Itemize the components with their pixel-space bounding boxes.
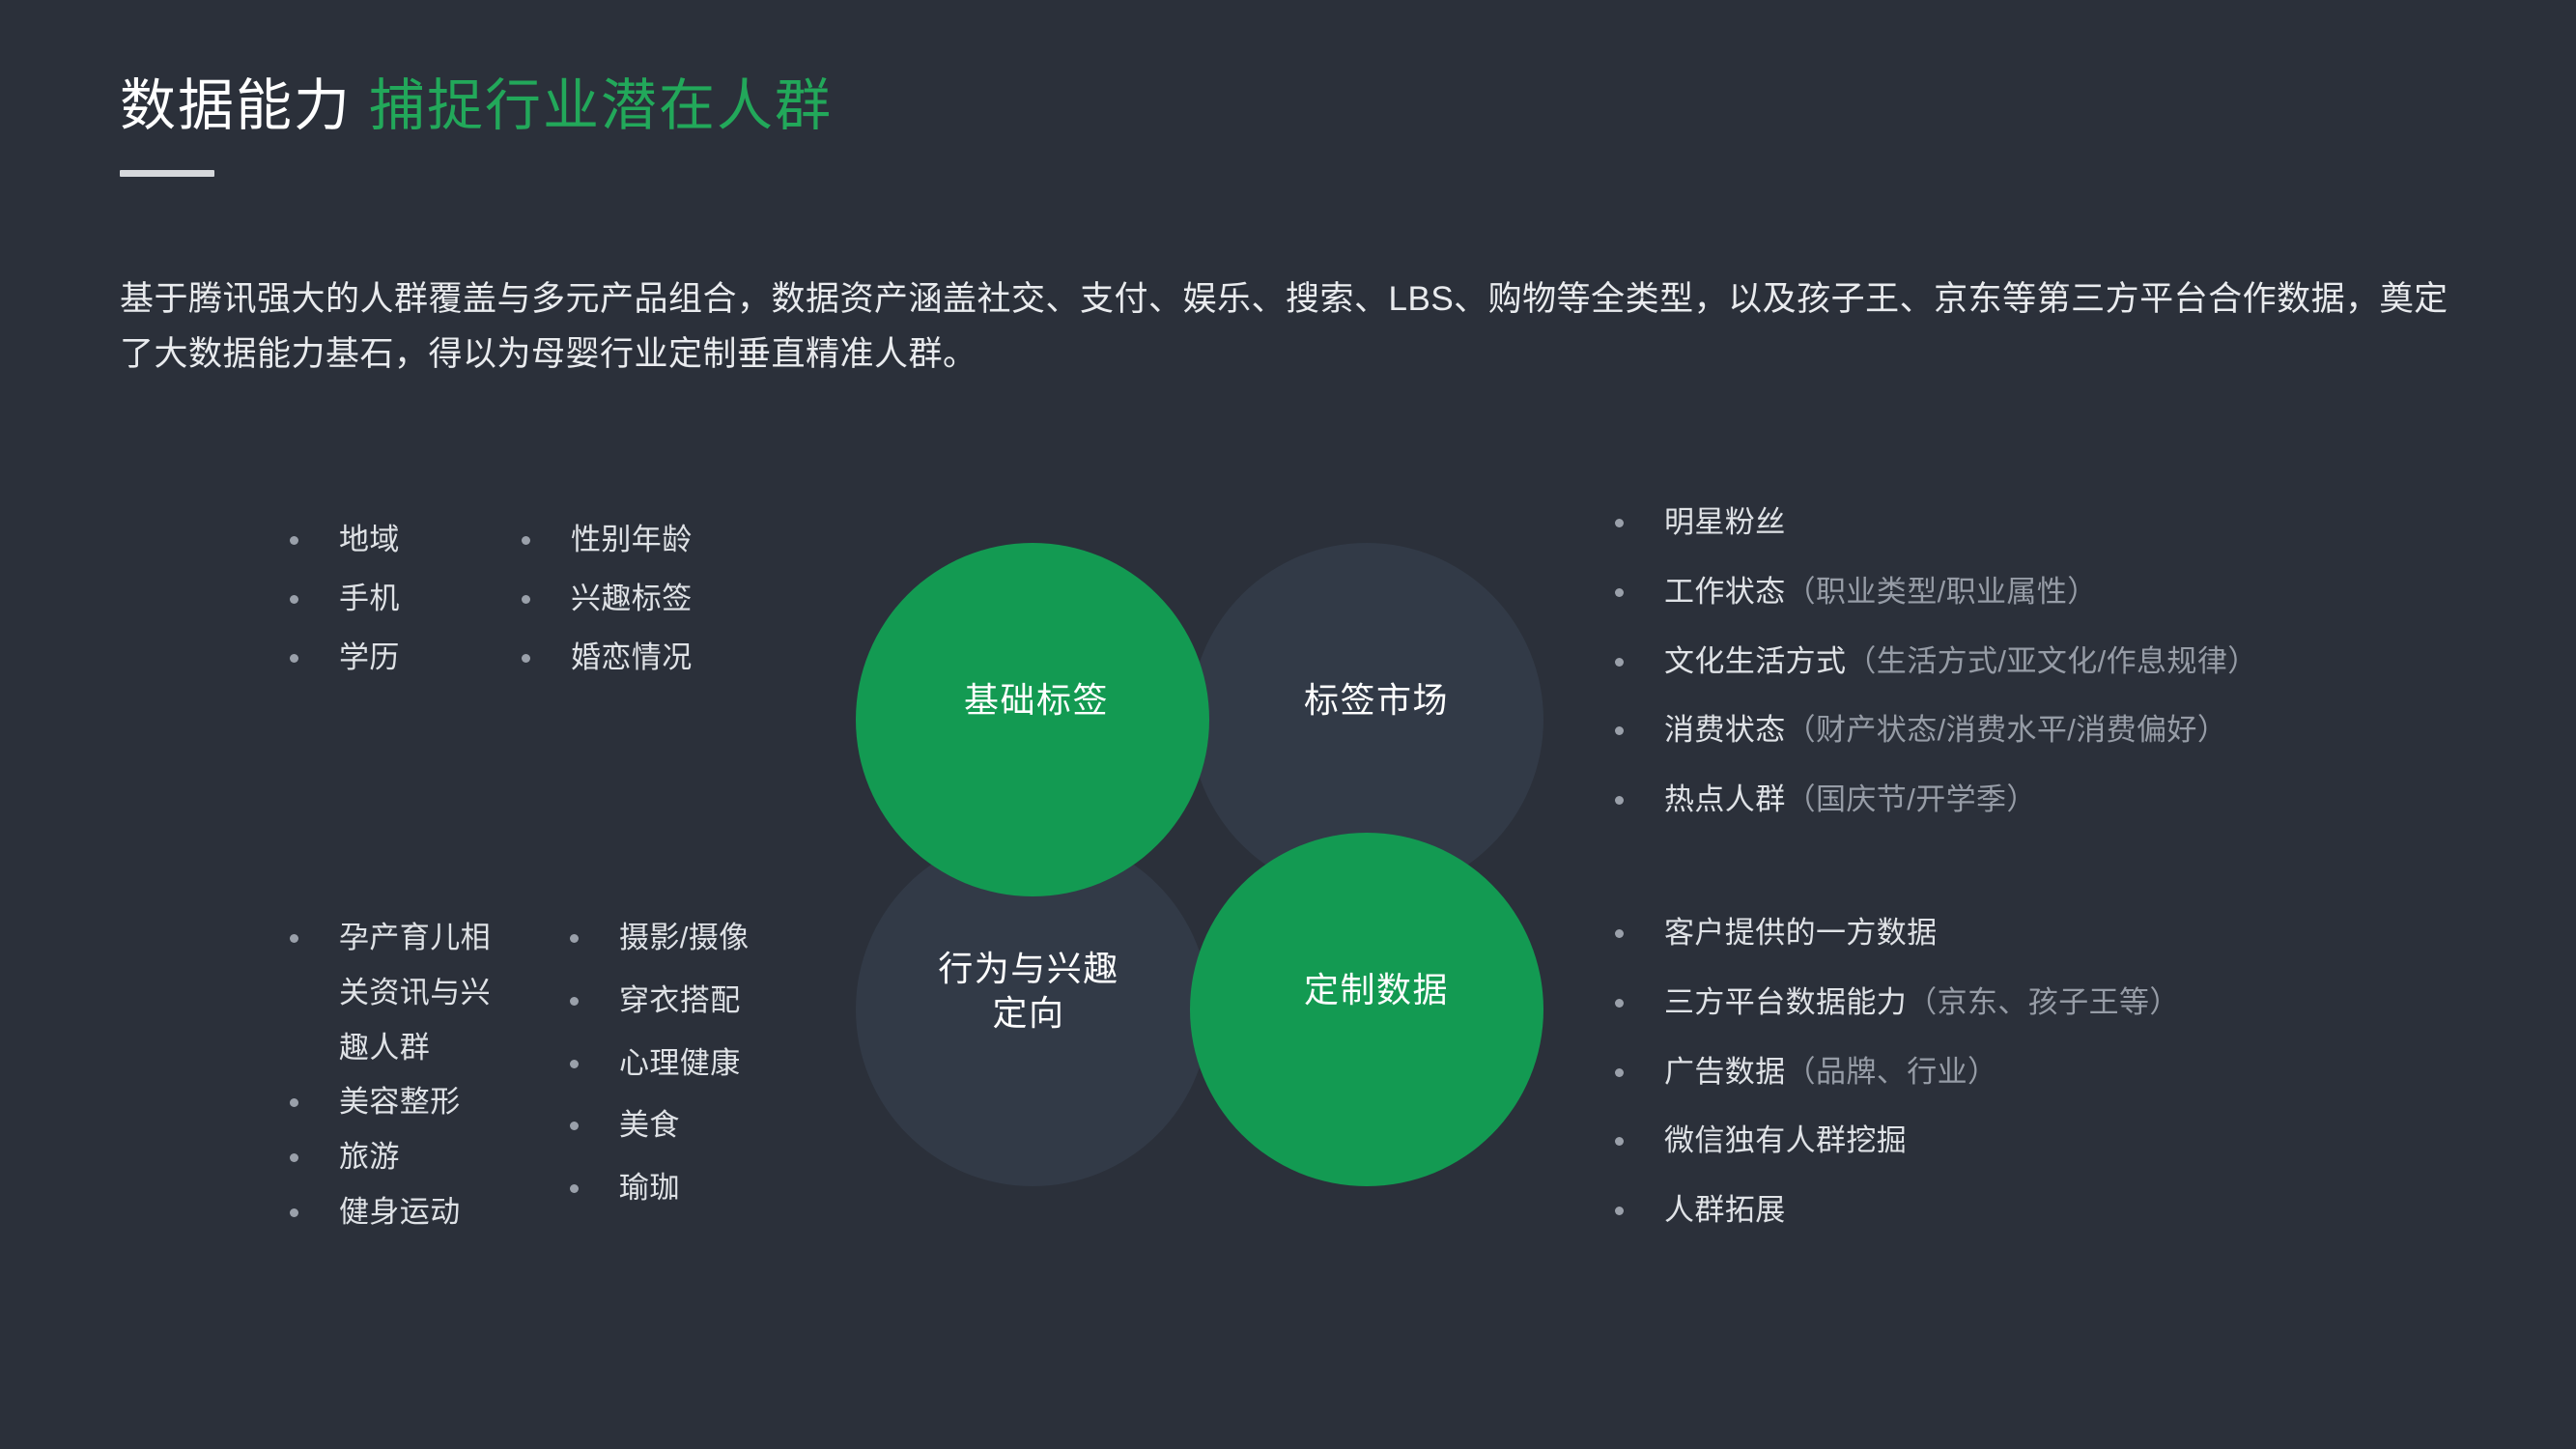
list-item: 关资讯与兴 bbox=[290, 973, 526, 1014]
list-item-label: 孕产育儿相 bbox=[339, 918, 526, 959]
bullet-dot-icon bbox=[1615, 519, 1624, 527]
list-item: 学历 bbox=[290, 638, 512, 679]
list-item: 穿衣搭配 bbox=[570, 980, 860, 1022]
bullet-dot-icon bbox=[290, 595, 298, 604]
list-item-label: 婚恋情况 bbox=[571, 638, 811, 679]
intro-text: 基于腾讯强大的人群覆盖与多元产品组合，数据资产涵盖社交、支付、娱乐、搜索、LBS… bbox=[120, 272, 2467, 382]
list-top-left-col1: 地域手机学历 bbox=[290, 520, 512, 696]
list-item-note: （职业类型/职业属性） bbox=[1786, 575, 2098, 609]
list-bottom-right: 客户提供的一方数据三方平台数据能力（京东、孩子王等）广告数据（品牌、行业）微信独… bbox=[1615, 913, 2465, 1260]
list-item: 微信独有人群挖掘 bbox=[1615, 1121, 2465, 1162]
list-item: 美容整形 bbox=[290, 1082, 526, 1123]
bullet-dot-icon bbox=[290, 536, 298, 545]
list-item: 摄影/摄像 bbox=[570, 918, 860, 959]
bullet-dot-icon bbox=[522, 536, 530, 545]
list-item: 孕产育儿相 bbox=[290, 918, 526, 959]
list-bottom-left-col2: 摄影/摄像穿衣搭配心理健康美食瑜珈 bbox=[570, 918, 860, 1231]
list-item: 热点人群（国庆节/开学季） bbox=[1615, 780, 2465, 821]
bullet-list: 客户提供的一方数据三方平台数据能力（京东、孩子王等）广告数据（品牌、行业）微信独… bbox=[1615, 913, 2465, 1232]
list-item-label: 明星粉丝 bbox=[1664, 502, 2465, 544]
list-item-label: 消费状态（财产状态/消费水平/消费偏好） bbox=[1664, 710, 2465, 752]
list-item-label: 健身运动 bbox=[339, 1192, 526, 1234]
list-item-label: 美食 bbox=[619, 1105, 860, 1147]
list-top-left-col2: 性别年龄兴趣标签婚恋情况 bbox=[522, 520, 811, 696]
list-item-label: 广告数据（品牌、行业） bbox=[1664, 1052, 2465, 1094]
list-item-note: （品牌、行业） bbox=[1786, 1055, 1998, 1089]
list-item-label: 手机 bbox=[339, 579, 512, 620]
list-item-label: 性别年龄 bbox=[571, 520, 811, 561]
bullet-dot-icon bbox=[290, 1153, 298, 1162]
page-title-main: 数据能力 bbox=[120, 74, 352, 137]
list-top-right: 明星粉丝工作状态（职业类型/职业属性）文化生活方式（生活方式/亚文化/作息规律）… bbox=[1615, 502, 2465, 849]
list-item: 工作状态（职业类型/职业属性） bbox=[1615, 572, 2465, 613]
list-item-label: 三方平台数据能力（京东、孩子王等） bbox=[1664, 982, 2465, 1024]
list-item: 明星粉丝 bbox=[1615, 502, 2465, 544]
list-item: 文化生活方式（生活方式/亚文化/作息规律） bbox=[1615, 641, 2465, 683]
list-item: 人群拓展 bbox=[1615, 1190, 2465, 1232]
list-item-label: 美容整形 bbox=[339, 1082, 526, 1123]
list-item-note: （国庆节/开学季） bbox=[1786, 782, 2037, 816]
bullet-list: 摄影/摄像穿衣搭配心理健康美食瑜珈 bbox=[570, 918, 860, 1209]
bullet-dot-icon bbox=[570, 1060, 579, 1068]
bullet-dot-icon bbox=[570, 1184, 579, 1193]
venn-circle-basic-tags[interactable] bbox=[856, 543, 1209, 896]
bullet-dot-icon bbox=[1615, 929, 1624, 938]
list-item: 趣人群 bbox=[290, 1028, 526, 1069]
bullet-dot-icon bbox=[1615, 1207, 1624, 1215]
bullet-dot-icon bbox=[290, 654, 298, 663]
bullet-dot-icon bbox=[1615, 726, 1624, 735]
bullet-dot-icon bbox=[290, 934, 298, 943]
bullet-dot-icon bbox=[1615, 658, 1624, 667]
list-item-label: 心理健康 bbox=[619, 1043, 860, 1085]
list-item: 美食 bbox=[570, 1105, 860, 1147]
slide-root: 数据能力捕捉行业潜在人群 基于腾讯强大的人群覆盖与多元产品组合，数据资产涵盖社交… bbox=[0, 0, 2576, 1449]
list-item: 三方平台数据能力（京东、孩子王等） bbox=[1615, 982, 2465, 1024]
title-underline-rule bbox=[120, 170, 214, 177]
list-item-label: 文化生活方式（生活方式/亚文化/作息规律） bbox=[1664, 641, 2465, 683]
list-item-label: 摄影/摄像 bbox=[619, 918, 860, 959]
bullet-list: 明星粉丝工作状态（职业类型/职业属性）文化生活方式（生活方式/亚文化/作息规律）… bbox=[1615, 502, 2465, 821]
list-item-label: 趣人群 bbox=[339, 1028, 526, 1069]
page-header: 数据能力捕捉行业潜在人群 bbox=[120, 75, 833, 177]
body-zone: 地域手机学历 性别年龄兴趣标签婚恋情况 孕产育儿相关资讯与兴趣人群美容整形旅游健… bbox=[0, 502, 2576, 1275]
list-bottom-left-col1: 孕产育儿相关资讯与兴趣人群美容整形旅游健身运动 bbox=[290, 918, 526, 1247]
bullet-dot-icon bbox=[570, 934, 579, 943]
list-item: 旅游 bbox=[290, 1137, 526, 1179]
list-item: 瑜珈 bbox=[570, 1168, 860, 1209]
bullet-dot-icon bbox=[1615, 999, 1624, 1008]
bullet-dot-icon bbox=[1615, 1137, 1624, 1146]
list-item-label: 热点人群（国庆节/开学季） bbox=[1664, 780, 2465, 821]
bullet-dot-icon bbox=[570, 997, 579, 1006]
list-item: 广告数据（品牌、行业） bbox=[1615, 1052, 2465, 1094]
list-item: 婚恋情况 bbox=[522, 638, 811, 679]
list-item-label: 工作状态（职业类型/职业属性） bbox=[1664, 572, 2465, 613]
venn-diagram: 基础标签 标签市场 行为与兴趣 定向 定制数据 bbox=[850, 502, 1565, 1217]
intro-paragraph: 基于腾讯强大的人群覆盖与多元产品组合，数据资产涵盖社交、支付、娱乐、搜索、LBS… bbox=[120, 272, 2467, 382]
bullet-list: 地域手机学历 bbox=[290, 520, 512, 678]
list-item-label: 客户提供的一方数据 bbox=[1664, 913, 2465, 954]
bullet-dot-icon bbox=[1615, 588, 1624, 597]
bullet-list: 孕产育儿相关资讯与兴趣人群美容整形旅游健身运动 bbox=[290, 918, 526, 1234]
list-item: 兴趣标签 bbox=[522, 579, 811, 620]
bullet-dot-icon bbox=[522, 654, 530, 663]
list-item-label: 兴趣标签 bbox=[571, 579, 811, 620]
list-item-note: （财产状态/消费水平/消费偏好） bbox=[1786, 713, 2228, 747]
bullet-dot-icon bbox=[1615, 796, 1624, 805]
list-item-note: （京东、孩子王等） bbox=[1907, 985, 2180, 1019]
bullet-dot-icon bbox=[570, 1122, 579, 1130]
list-item-label: 关资讯与兴 bbox=[339, 973, 526, 1014]
list-item-label: 地域 bbox=[339, 520, 512, 561]
bullet-dot-icon bbox=[290, 1098, 298, 1107]
list-item: 心理健康 bbox=[570, 1043, 860, 1085]
list-item-label: 人群拓展 bbox=[1664, 1190, 2465, 1232]
list-item-label: 旅游 bbox=[339, 1137, 526, 1179]
list-item: 性别年龄 bbox=[522, 520, 811, 561]
list-item-label: 微信独有人群挖掘 bbox=[1664, 1121, 2465, 1162]
list-item: 消费状态（财产状态/消费水平/消费偏好） bbox=[1615, 710, 2465, 752]
list-item: 健身运动 bbox=[290, 1192, 526, 1234]
page-title-accent: 捕捉行业潜在人群 bbox=[369, 74, 833, 137]
list-item: 手机 bbox=[290, 579, 512, 620]
page-title: 数据能力捕捉行业潜在人群 bbox=[120, 75, 833, 137]
list-item-label: 学历 bbox=[339, 638, 512, 679]
list-item: 地域 bbox=[290, 520, 512, 561]
list-item: 客户提供的一方数据 bbox=[1615, 913, 2465, 954]
list-item-label: 穿衣搭配 bbox=[619, 980, 860, 1022]
bullet-list: 性别年龄兴趣标签婚恋情况 bbox=[522, 520, 811, 678]
venn-circle-custom-data[interactable] bbox=[1190, 833, 1543, 1186]
bullet-dot-icon bbox=[1615, 1068, 1624, 1077]
list-item-note: （生活方式/亚文化/作息规律） bbox=[1846, 644, 2257, 678]
bullet-dot-icon bbox=[290, 1208, 298, 1217]
bullet-dot-icon bbox=[522, 595, 530, 604]
list-item-label: 瑜珈 bbox=[619, 1168, 860, 1209]
